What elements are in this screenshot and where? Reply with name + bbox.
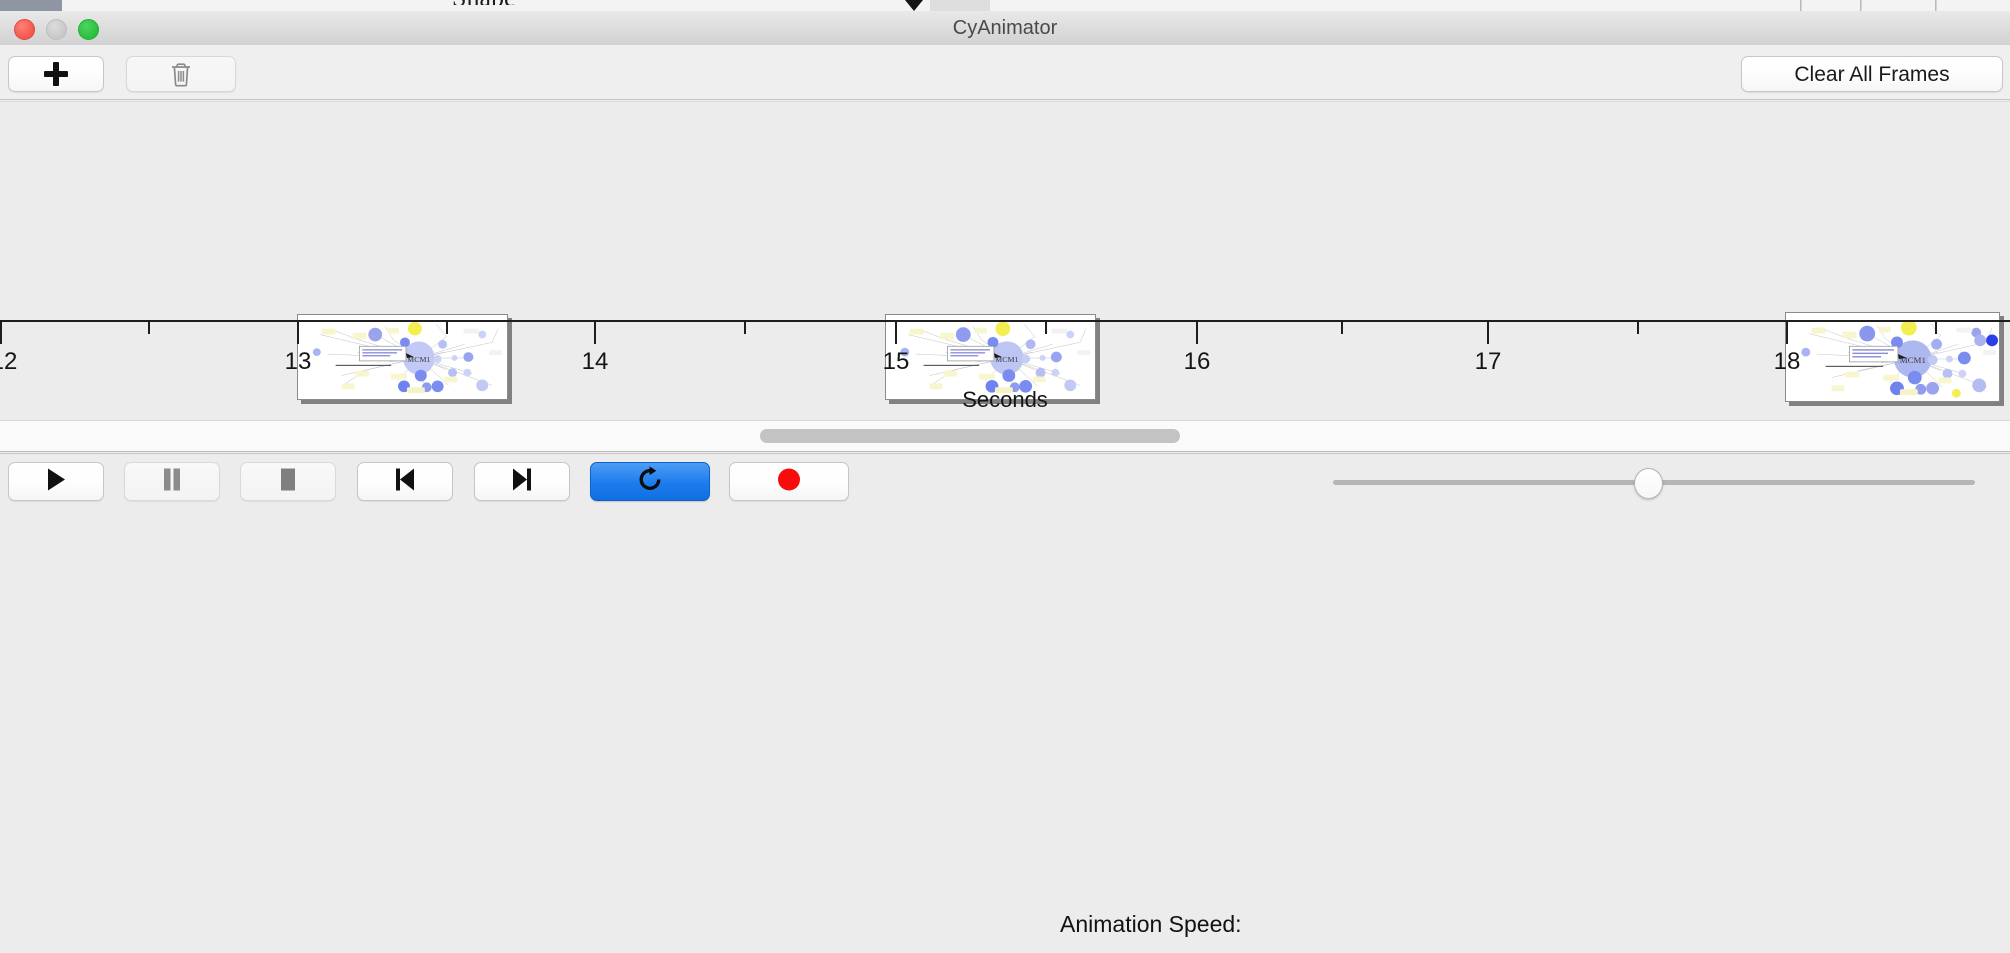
axis-tick-minor (1341, 322, 1343, 334)
background-cursor-arrow (905, 0, 923, 11)
delete-frame-button[interactable] (126, 56, 236, 92)
axis-tick-label: 12 (0, 348, 17, 376)
axis-tick-label: 14 (582, 348, 609, 376)
axis-tick-label: 18 (1774, 348, 1801, 376)
skip-to-end-button[interactable] (474, 462, 570, 501)
window-titlebar[interactable]: CyAnimator (0, 11, 2010, 46)
plus-icon (44, 62, 68, 86)
background-titlebar-fragment (0, 0, 62, 11)
clear-all-frames-label: Clear All Frames (1742, 57, 2002, 93)
loop-icon (637, 466, 663, 497)
axis-tick-major (1196, 322, 1198, 344)
play-button[interactable] (8, 462, 104, 501)
axis-title: Seconds (0, 387, 2010, 413)
svg-text:MCM1: MCM1 (995, 355, 1018, 364)
timeline-panel[interactable]: MCM1 (0, 102, 2010, 420)
toolbar-divider (0, 99, 2010, 100)
clear-all-frames-button[interactable]: Clear All Frames (1741, 56, 2003, 92)
axis-tick-major (1786, 322, 1788, 344)
axis-tick-minor (446, 322, 448, 334)
pause-button[interactable] (124, 462, 220, 501)
timeline-scrollbar[interactable] (0, 420, 2010, 452)
loop-button[interactable] (590, 462, 710, 501)
window-title: CyAnimator (0, 11, 2010, 45)
trash-icon (170, 61, 192, 87)
svg-text:MCM1: MCM1 (407, 355, 430, 364)
background-window-label: Shape (452, 0, 516, 5)
stop-button[interactable] (240, 462, 336, 501)
axis-tick-major (895, 322, 897, 344)
animation-speed-slider-thumb[interactable] (1634, 468, 1663, 499)
skip-back-icon (393, 467, 417, 496)
axis-tick-label: 17 (1475, 348, 1502, 376)
animation-speed-label: Animation Speed: (1060, 896, 1242, 953)
axis-tick-major (594, 322, 596, 344)
record-button[interactable] (729, 462, 849, 501)
axis-tick-minor (744, 322, 746, 334)
axis-tick-label: 13 (285, 348, 312, 376)
cyanimator-window-root: Shape CyAnimator (0, 0, 2010, 510)
axis-tick-label: 16 (1184, 348, 1211, 376)
axis-tick-minor (148, 322, 150, 334)
add-frame-button[interactable] (8, 56, 104, 92)
cyanimator-window: CyAnimator Clear All Frames (0, 11, 2010, 510)
axis-tick-minor (1045, 322, 1047, 334)
axis-tick-major (297, 322, 299, 344)
record-icon (776, 466, 802, 497)
skip-to-start-button[interactable] (357, 462, 453, 501)
frame-toolbar: Clear All Frames (0, 45, 2010, 100)
pause-icon (162, 467, 182, 496)
stop-icon (278, 467, 298, 496)
skip-forward-icon (510, 467, 534, 496)
axis-tick-minor (1935, 322, 1937, 334)
play-icon (45, 467, 67, 496)
axis-tick-major (1487, 322, 1489, 344)
scrollbar-thumb[interactable] (760, 429, 1180, 443)
axis-tick-label: 15 (883, 348, 910, 376)
svg-text:MCM1: MCM1 (1900, 355, 1926, 365)
axis-tick-minor (1637, 322, 1639, 334)
timeline-axis-line (0, 320, 2010, 322)
axis-tick-major (0, 322, 2, 344)
